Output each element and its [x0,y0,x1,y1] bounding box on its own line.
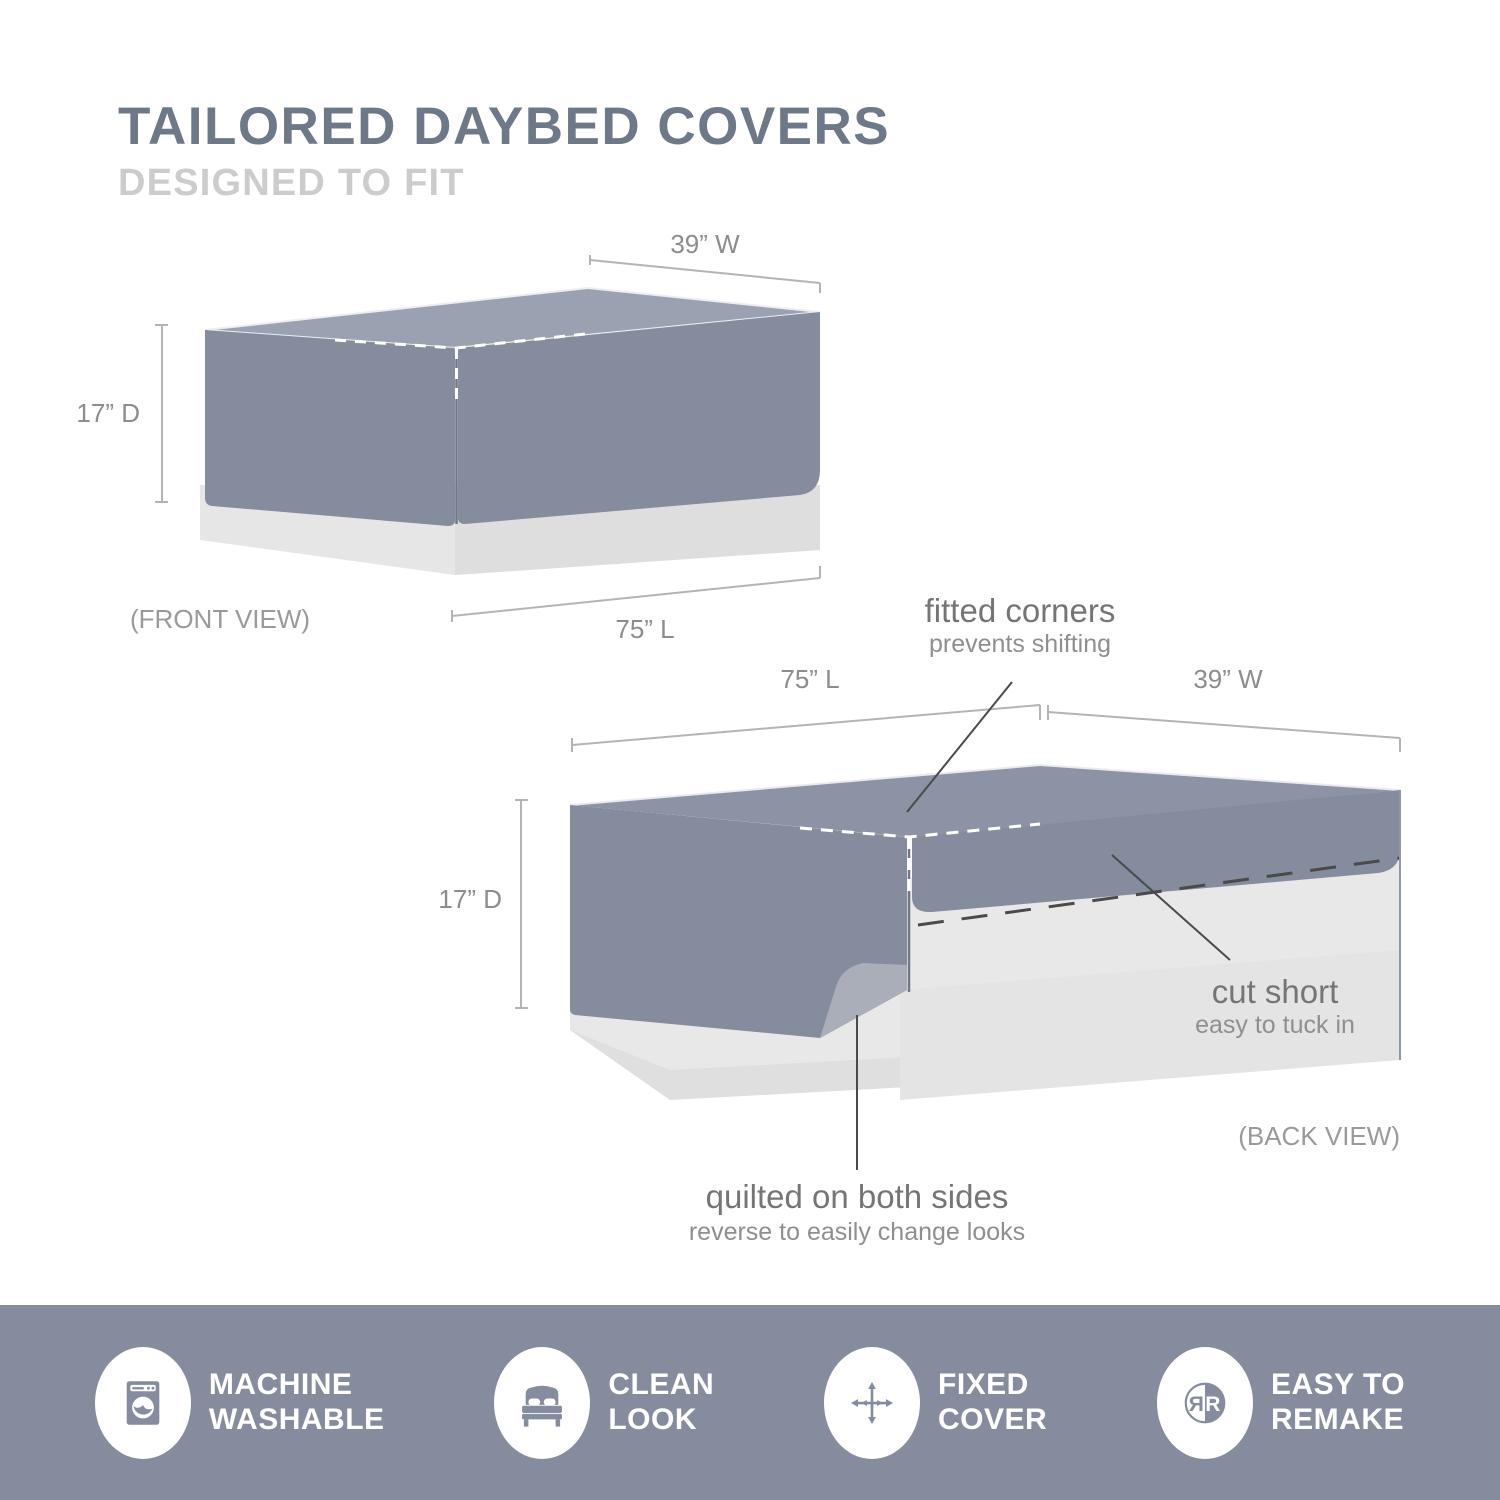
reversible-r-icon: R R [1157,1347,1253,1459]
page-title: TAILORED DAYBED COVERS [118,100,890,153]
feature-clean-look: CLEAN LOOK [494,1347,714,1459]
four-arrows-icon [824,1347,920,1459]
washing-machine-glyph [114,1374,172,1432]
svg-text:R: R [1205,1392,1220,1415]
feature-easy-to-remake-label: EASY TO REMAKE [1271,1368,1405,1437]
feature-machine-washable-line2: WASHABLE [209,1403,385,1438]
front-view-depth-label: 17” D [76,398,140,428]
back-view-depth-dimension: 17” D [438,800,528,1008]
front-view-cover-left-panel [205,330,455,526]
feature-machine-washable: MACHINE WASHABLE [95,1347,385,1459]
back-view-depth-label: 17” D [438,884,502,914]
header: TAILORED DAYBED COVERS DESIGNED TO FIT [118,100,890,205]
feature-clean-look-line2: LOOK [608,1403,714,1438]
front-view-width-label: 39” W [670,230,740,259]
feature-machine-washable-line1: MACHINE [209,1368,385,1403]
callout-cut-short-subtitle: easy to tuck in [1195,1011,1355,1039]
callout-quilted-title: quilted on both sides [706,1178,1009,1215]
feature-fixed-cover-line2: COVER [938,1403,1047,1438]
callout-fitted-corners-subtitle: prevents shifting [929,630,1111,658]
callout-cut-short-title: cut short [1212,973,1339,1010]
feature-machine-washable-label: MACHINE WASHABLE [209,1368,385,1437]
svg-text:R: R [1189,1392,1204,1415]
front-view-depth-dimension: 17” D [76,325,168,502]
front-view-label: (FRONT VIEW) [130,604,310,634]
bed-icon [494,1347,590,1459]
back-view-length-dimension: 75” L [572,664,1040,752]
washing-machine-icon [95,1347,191,1459]
feature-clean-look-line1: CLEAN [608,1368,714,1403]
feature-bar: MACHINE WASHABLE CLEAN LOOK [0,1305,1500,1500]
feature-fixed-cover-label: FIXED COVER [938,1368,1047,1437]
back-view-label: (BACK VIEW) [1238,1121,1400,1151]
bed-glyph [513,1374,571,1432]
reversible-r-glyph: R R [1177,1375,1233,1431]
page-subtitle: DESIGNED TO FIT [118,163,890,205]
back-view-width-dimension: 39” W [1048,664,1400,752]
back-view-width-label: 39” W [1193,664,1263,694]
back-view-diagram: 75” L 39” W 17” D fitted corners prevent… [420,560,1500,1260]
front-view-cover-right-panel [458,312,820,524]
feature-easy-to-remake-line1: EASY TO [1271,1368,1405,1403]
front-view-width-dimension: 39” W [590,230,820,293]
callout-fitted-corners-title: fitted corners [925,592,1116,629]
four-arrows-glyph [844,1375,900,1431]
feature-fixed-cover-line1: FIXED [938,1368,1047,1403]
callout-quilted-subtitle: reverse to easily change looks [689,1218,1025,1246]
feature-easy-to-remake-line2: REMAKE [1271,1403,1405,1438]
feature-easy-to-remake: R R EASY TO REMAKE [1157,1347,1405,1459]
feature-fixed-cover: FIXED COVER [824,1347,1047,1459]
back-view-length-label: 75” L [780,664,839,694]
feature-clean-look-label: CLEAN LOOK [608,1368,714,1437]
